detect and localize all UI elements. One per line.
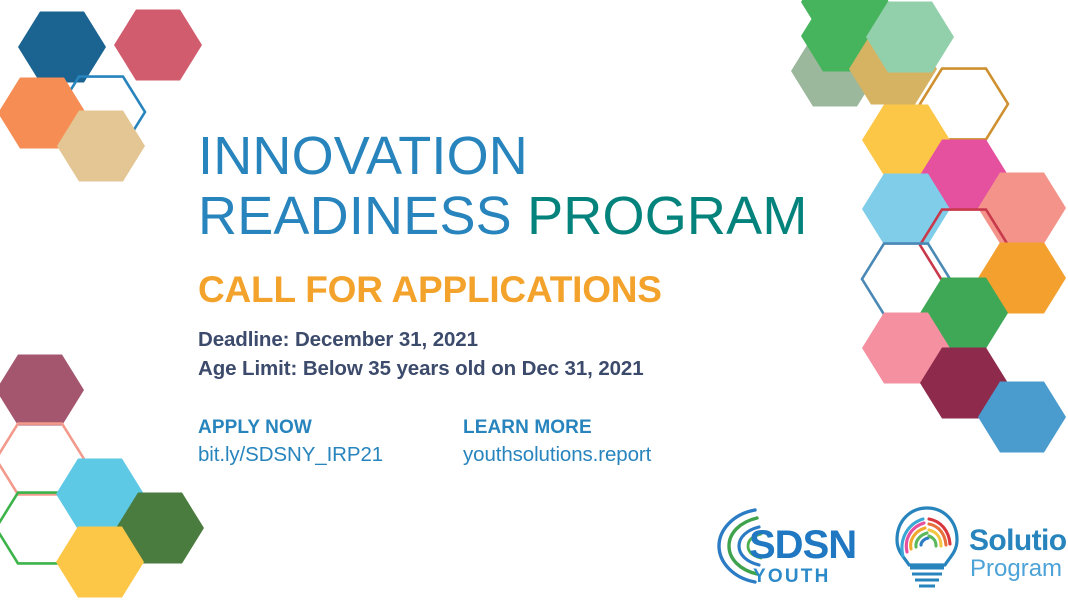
solutions-logo-svg: Solutions Program — [877, 500, 1068, 592]
title-readiness: READINESS — [198, 186, 527, 246]
hexagon — [57, 111, 145, 182]
solutions-program-logo: Solutions Program — [877, 500, 1068, 592]
solutions-wordmark: Solutions — [969, 524, 1068, 557]
hexagon — [114, 10, 202, 81]
hexagon — [978, 243, 1066, 314]
hexagon — [920, 69, 1008, 140]
hexagon — [791, 36, 879, 107]
hexagon — [862, 313, 950, 384]
learn-more-column[interactable]: LEARN MORE youthsolutions.report — [463, 417, 728, 467]
hexagon — [920, 348, 1008, 419]
apply-now-url[interactable]: bit.ly/SDSNY_IRP21 — [198, 443, 463, 467]
title-program: PROGRAM — [527, 186, 807, 246]
sdsn-wordmark: SDSN — [749, 523, 856, 567]
subtitle-call-for-applications: CALL FOR APPLICATIONS — [198, 269, 838, 311]
links-row: APPLY NOW bit.ly/SDSNY_IRP21 LEARN MORE … — [198, 417, 838, 467]
hexagon — [56, 527, 144, 598]
learn-more-url[interactable]: youthsolutions.report — [463, 443, 728, 467]
hexagon — [0, 355, 84, 426]
sdsn-youth-subtext: YOUTH — [753, 566, 831, 587]
deadline-text: Deadline: December 31, 2021 — [198, 325, 838, 354]
details-block: Deadline: December 31, 2021 Age Limit: B… — [198, 325, 838, 383]
apply-now-column[interactable]: APPLY NOW bit.ly/SDSNY_IRP21 — [198, 417, 463, 467]
title-line-1: INNOVATION — [198, 126, 528, 186]
sdsn-logo-svg: SDSN YOUTH — [705, 500, 865, 592]
hexagon — [849, 34, 937, 105]
hexagon — [801, 1, 889, 72]
hexagon — [116, 493, 204, 564]
hexagon — [920, 278, 1008, 349]
poster-canvas: INNOVATION READINESS PROGRAM CALL FOR AP… — [0, 0, 1068, 601]
hexagon — [862, 174, 950, 245]
age-limit-text: Age Limit: Below 35 years old on Dec 31,… — [198, 354, 838, 383]
lightbulb-icon — [897, 508, 957, 586]
hexagon — [0, 78, 86, 149]
lightbulb-color-arcs — [902, 519, 950, 556]
hexagon — [920, 210, 1008, 281]
hexagon — [862, 105, 950, 176]
apply-now-heading: APPLY NOW — [198, 417, 463, 439]
hexagon — [978, 382, 1066, 453]
hexagon — [56, 459, 144, 530]
hexagon — [920, 140, 1008, 211]
logo-row: SDSN YOUTH — [705, 500, 1068, 592]
hexagon — [866, 2, 954, 73]
hexagon — [57, 77, 145, 148]
hex-cluster-top-left — [0, 10, 202, 182]
hexagon — [0, 493, 84, 564]
hexagon — [0, 424, 84, 495]
hex-cluster-bottom-left — [0, 355, 204, 598]
title-line-2: READINESS PROGRAM — [198, 186, 838, 246]
program-wordmark: Program — [970, 555, 1062, 582]
hexagon — [862, 244, 950, 315]
hexagon — [18, 12, 106, 83]
hexagon — [801, 0, 889, 37]
content-block: INNOVATION READINESS PROGRAM CALL FOR AP… — [198, 126, 838, 467]
page-title: INNOVATION READINESS PROGRAM — [198, 126, 838, 247]
hexagon — [978, 173, 1066, 244]
sdsn-youth-logo: SDSN YOUTH — [705, 500, 865, 592]
learn-more-heading: LEARN MORE — [463, 417, 728, 439]
